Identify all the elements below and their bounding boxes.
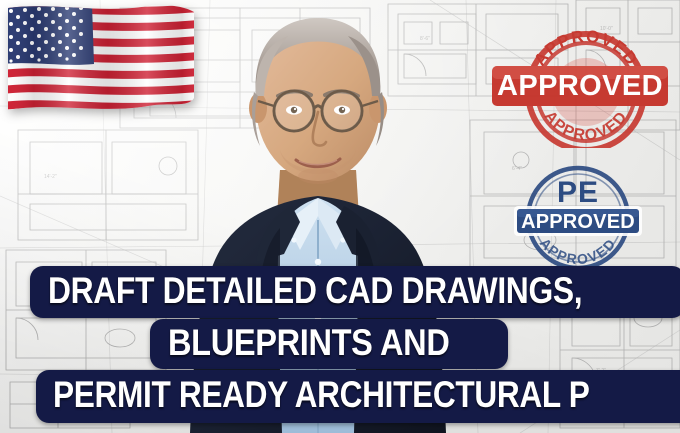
headline-line-1: DRAFT DETAILED CAD DRAWINGS,	[48, 272, 582, 310]
headline-band-1: DRAFT DETAILED CAD DRAWINGS,	[30, 266, 680, 318]
stamp-blue-arc-bottom: APPROVED	[537, 235, 619, 268]
approved-stamp-red: APPROVED APPROVED APPROVED	[492, 16, 680, 148]
headline-band-3: PERMIT READY ARCHITECTURAL P	[36, 370, 680, 423]
stamp-blue-top-text: PE	[557, 176, 599, 209]
svg-text:APPROVED: APPROVED	[537, 235, 619, 268]
headline-band-2: BLUEPRINTS AND	[150, 319, 508, 369]
pe-approved-stamp-graphic: PE APPROVED APPROVED	[510, 160, 646, 275]
stamp-red-banner-text: APPROVED	[497, 70, 663, 102]
svg-text:14'-2": 14'-2"	[44, 174, 57, 180]
headline-block: DRAFT DETAILED CAD DRAWINGS, BLUEPRINTS …	[0, 266, 680, 423]
pe-approved-stamp-blue: PE APPROVED APPROVED	[510, 160, 646, 275]
approved-stamp-red-graphic: APPROVED APPROVED APPROVED	[492, 16, 680, 148]
thumbnail-canvas: 12'-4" 8'-6" 10'-0" 14'-2" 9'-8" 6'-4" 1…	[0, 0, 680, 433]
headline-line-2: BLUEPRINTS AND	[168, 324, 449, 362]
stamp-blue-banner-text: APPROVED	[521, 211, 635, 233]
headline-line-3: PERMIT READY ARCHITECTURAL P	[53, 376, 589, 414]
